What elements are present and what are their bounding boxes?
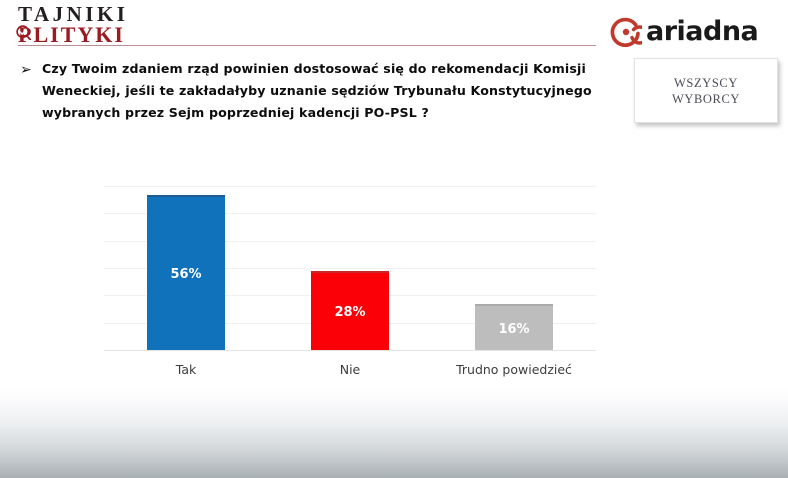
audience-line-2: WYBORCY	[672, 91, 740, 107]
ariadna-logo: ariadna	[610, 14, 782, 50]
ariadna-wordmark: ariadna	[646, 17, 758, 47]
brand-line-2-suffix: LITYKI	[33, 22, 124, 47]
audience-line-1: WSZYSCY	[674, 75, 738, 91]
magnifier-check-icon	[16, 25, 31, 40]
question-block: ➢ Czy Twoim zdaniem rząd powinien dostos…	[20, 58, 595, 124]
chart-bar[interactable]: 56%	[147, 195, 225, 350]
chart-bar-slot: 16%	[475, 186, 553, 350]
brand-line-1: TAJNIKI	[18, 4, 218, 24]
ariadna-spiral-icon	[610, 16, 642, 48]
chart-plot-area: 56%28%16%	[104, 186, 596, 350]
brand-line-2: PLITYKI	[18, 24, 218, 46]
audience-badge: WSZYSCY WYBORCY	[634, 58, 778, 123]
chart-category-label: Trudno powiedzieć	[432, 362, 596, 377]
bullet-arrow-icon: ➢	[20, 58, 42, 124]
chart-bar-slot: 56%	[147, 186, 225, 350]
tajniki-polityki-logo: TAJNIKI PLITYKI	[18, 4, 218, 46]
slide-canvas: TAJNIKI PLITYKI ariadna WSZYSCY WYBORCY …	[0, 0, 788, 478]
poll-bar-chart: 56%28%16% TakNieTrudno powiedzieć	[104, 186, 596, 386]
chart-bar-value-label: 28%	[334, 305, 365, 320]
chart-bar[interactable]: 16%	[475, 304, 553, 350]
chart-bar-slot: 28%	[311, 186, 389, 350]
chart-category-label: Nie	[268, 362, 432, 377]
chart-category-label: Tak	[104, 362, 268, 377]
question-text: Czy Twoim zdaniem rząd powinien dostosow…	[42, 58, 595, 124]
chart-bar[interactable]: 28%	[311, 271, 389, 350]
chart-bar-value-label: 16%	[498, 322, 529, 337]
header-divider	[18, 45, 596, 46]
chart-axis-line	[104, 350, 596, 351]
chart-bar-value-label: 56%	[170, 267, 201, 282]
